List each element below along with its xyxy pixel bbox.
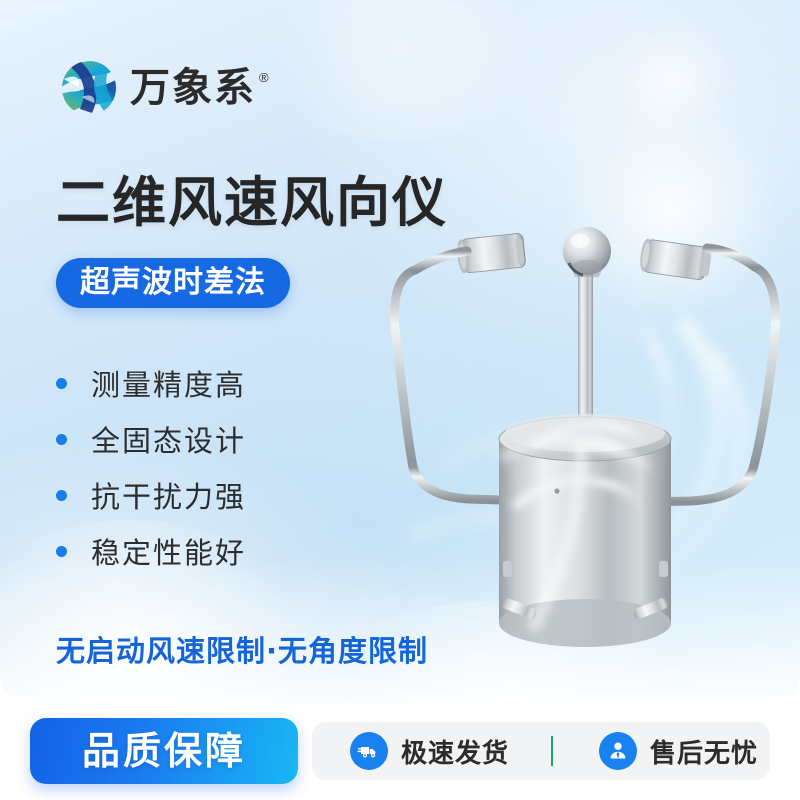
bullet-dot-icon: [56, 490, 67, 501]
footer-feature-bar: 极速发货 售后无忧: [312, 722, 770, 780]
footer-divider: [551, 736, 553, 766]
list-item: 全固态设计: [56, 411, 246, 467]
transducer-head-right: [638, 238, 712, 281]
footer-item-label: 售后无忧: [650, 733, 758, 770]
bullet-dot-icon: [56, 546, 67, 557]
footer-item-fast-shipping: 极速发货: [350, 732, 509, 770]
feature-label: 稳定性能好: [91, 530, 246, 572]
delivery-truck-icon: [350, 732, 388, 770]
bullet-dot-icon: [56, 378, 67, 389]
footer-item-after-sales: 售后无忧: [599, 732, 758, 770]
list-item: 稳定性能好: [56, 523, 246, 579]
light-bloom-icon: [250, 0, 550, 140]
list-item: 抗干扰力强: [56, 467, 246, 523]
side-screw-left: [503, 561, 512, 577]
support-agent-icon: [599, 732, 637, 770]
quality-badge: 品质保障: [30, 718, 298, 784]
anemometer-illustration: [385, 205, 785, 665]
feature-label: 全固态设计: [91, 418, 246, 460]
list-item: 测量精度高: [56, 355, 246, 411]
technology-badge-label: 超声波时差法: [80, 268, 266, 298]
spherical-top: [563, 227, 611, 277]
technology-badge: 超声波时差法: [56, 258, 290, 308]
product-image: [385, 205, 785, 665]
feature-label: 抗干扰力强: [91, 474, 246, 516]
brand-name: 万象系: [130, 68, 256, 108]
side-screw-right: [659, 561, 668, 577]
product-poster: 万象系 ® 二维风速风向仪 超声波时差法 测量精度高 全固态设计 抗干扰力强 稳…: [0, 0, 800, 800]
light-bloom-icon: [610, 20, 730, 140]
feature-label: 测量精度高: [91, 362, 246, 404]
footer-bar: 极速发货 售后无忧 品质保障: [0, 718, 800, 788]
quality-badge-label: 品质保障: [82, 732, 246, 770]
support-arm-right: [753, 267, 776, 469]
bullet-dot-icon: [56, 434, 67, 445]
feature-list: 测量精度高 全固态设计 抗干扰力强 稳定性能好: [56, 355, 246, 579]
swirl-globe-logo-icon: [58, 57, 120, 119]
registered-mark: ®: [259, 70, 269, 85]
support-arm-left: [394, 270, 415, 467]
footer-item-label: 极速发货: [401, 733, 509, 770]
tagline: 无启动风速限制·无角度限制: [56, 628, 428, 670]
brand-logo: 万象系 ®: [58, 57, 269, 119]
